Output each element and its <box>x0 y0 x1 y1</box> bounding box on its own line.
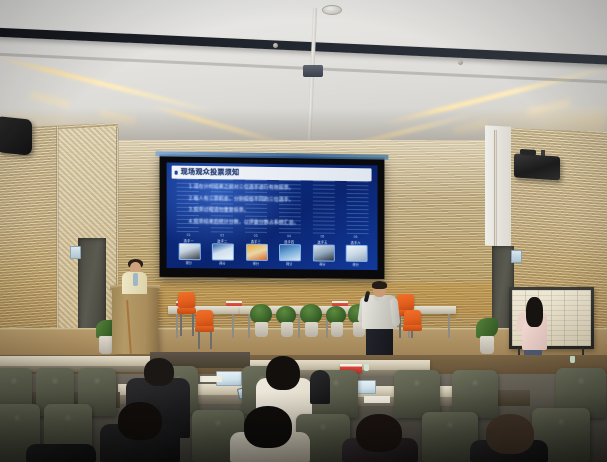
candidate-photo <box>346 245 368 262</box>
slide-title-bar: 现场观众投票须知 <box>172 166 372 182</box>
audience-member-head <box>486 414 534 454</box>
orange-chair-leg <box>210 331 212 349</box>
podium <box>112 288 158 354</box>
slide-bullet-3: 3.投票过程请勿重复投票。 <box>189 208 321 215</box>
potted-plant-foliage <box>300 304 322 324</box>
door-sign-left-icon <box>70 246 81 259</box>
slide-title-bullet-icon <box>175 170 178 174</box>
audience-member-body <box>26 444 96 462</box>
paper-sheet <box>364 396 390 403</box>
audience-member-head <box>244 406 292 448</box>
plant-pot <box>305 322 318 337</box>
audience-member-head <box>356 414 402 452</box>
orange-stage-chair[interactable] <box>397 294 414 310</box>
candidate-photo <box>312 244 334 261</box>
plant-pot <box>281 322 293 337</box>
slide-bullet-4: 4.投票结束后统计分数，以评委分数占系统汇总。 <box>189 219 321 226</box>
potted-plant-foliage <box>476 318 498 338</box>
candidate-caption: 得分 <box>352 262 358 267</box>
slide-content: 现场观众投票须知 1.请在计时结束之前对三位选手进行有效投票。 2.每人有三票机… <box>167 162 378 270</box>
potted-plant-foliage <box>250 304 272 324</box>
candidate-caption: 得分 <box>186 260 192 265</box>
candidate-card[interactable]: 04 选手四 得分 <box>277 234 301 266</box>
candidate-photo <box>279 244 301 261</box>
drink-cup <box>364 364 369 371</box>
candidate-number: 05 <box>320 235 324 239</box>
candidate-caption: 得分 <box>286 261 292 266</box>
slide-bullet-list: 1.请在计时结束之前对三位选手进行有效投票。 2.每人有三票机会，分别投给不同的… <box>189 185 321 233</box>
audience-chair[interactable] <box>394 370 440 418</box>
audience-member-head <box>266 356 300 390</box>
candidate-card[interactable]: 05 选手五 得分 <box>310 234 334 266</box>
candidate-caption: 得分 <box>219 260 225 265</box>
orange-chair-leg <box>198 331 200 349</box>
audience-member-body <box>310 370 330 404</box>
plant-pot <box>480 336 494 354</box>
wall-speaker-right-icon <box>514 153 560 180</box>
stage-table-leg <box>448 314 450 338</box>
plant-pot <box>99 336 113 354</box>
ceiling-pole-cap <box>322 5 342 15</box>
candidate-number: 01 <box>187 233 191 237</box>
sprinkler-head-1 <box>273 43 278 48</box>
orange-chair-seat <box>403 325 422 331</box>
orange-stage-chair[interactable] <box>178 292 195 308</box>
candidate-card[interactable]: 06 选手六 得分 <box>344 235 368 267</box>
candidate-number: 04 <box>287 234 291 238</box>
drink-cup <box>570 356 575 363</box>
projection-screen: 现场观众投票须知 1.请在计时结束之前对三位选手进行有效投票。 2.每人有三票机… <box>160 154 385 279</box>
candidate-card[interactable]: 01 选手一 得分 <box>177 233 201 265</box>
door-sign-right-icon <box>511 250 522 263</box>
orange-stage-chair[interactable] <box>196 310 213 326</box>
audience-member-head <box>118 402 162 440</box>
right-wall-corner-trim <box>485 125 511 246</box>
slide-title: 现场观众投票须知 <box>181 168 240 178</box>
candidate-number: 06 <box>354 235 358 239</box>
whiteboard-writer-hair <box>526 297 543 327</box>
conference-hall-photo: 现场观众投票须知 1.请在计时结束之前对三位选手进行有效投票。 2.每人有三票机… <box>0 0 607 462</box>
orange-chair-leg <box>180 314 182 336</box>
podium-speaker-lanyard <box>133 273 138 286</box>
candidate-caption: 得分 <box>319 261 325 266</box>
candidate-card-row: 01 选手一 得分 02 选手二 得分 03 选手三 得分 <box>177 233 368 267</box>
ceiling-beam <box>0 27 607 66</box>
plant-pot <box>255 322 268 337</box>
candidate-number: 03 <box>254 234 258 238</box>
orange-chair-leg <box>192 314 194 336</box>
candidate-card[interactable]: 02 选手二 得分 <box>210 233 234 265</box>
audience-member-head <box>144 358 174 386</box>
slide-bullet-1: 1.请在计时结束之前对三位选手进行有效投票。 <box>189 185 321 192</box>
ceiling-pole-mount-box <box>303 65 323 77</box>
candidate-card[interactable]: 03 选手三 得分 <box>244 234 268 266</box>
candidate-photo <box>212 243 234 260</box>
candidate-caption: 得分 <box>253 261 259 266</box>
candidate-photo <box>179 243 201 260</box>
candidate-number: 02 <box>220 233 224 237</box>
presenter-hair <box>372 281 387 289</box>
wall-speaker-left-icon <box>0 116 32 156</box>
orange-stage-chair[interactable] <box>404 310 421 326</box>
stage-table-leg <box>176 314 178 338</box>
sprinkler-head-2 <box>458 60 463 65</box>
plant-pot <box>331 322 343 337</box>
stage-table-leg <box>232 314 234 338</box>
slide-bullet-2: 2.每人有三票机会，分别投给不同的三位选手。 <box>189 196 321 203</box>
ceiling-downlight-1 <box>30 91 71 107</box>
audience-chair[interactable] <box>452 370 498 418</box>
paper-sheet <box>200 376 222 382</box>
candidate-photo <box>246 244 268 261</box>
audience-desk <box>0 356 150 366</box>
